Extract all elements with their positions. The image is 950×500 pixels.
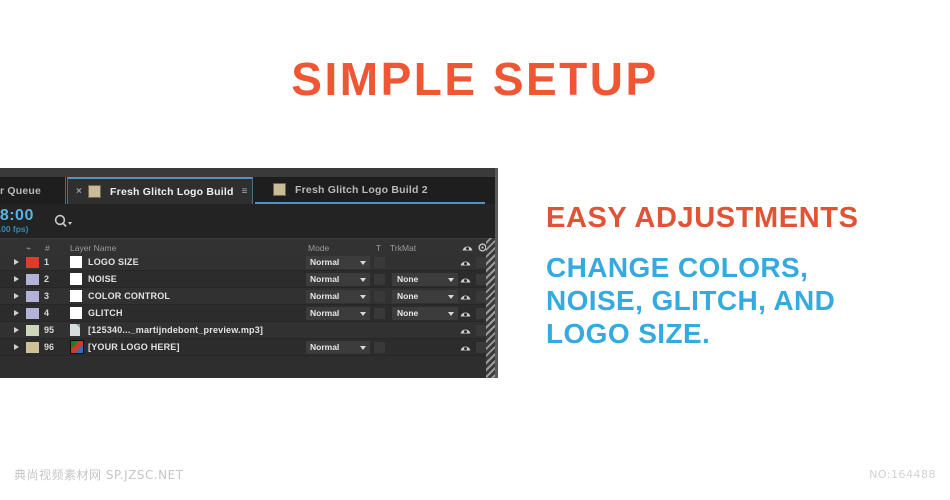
layer-source-icon <box>70 305 84 321</box>
layer-name[interactable]: NOISE <box>88 271 298 287</box>
layer-number: 3 <box>44 288 66 304</box>
layer-name[interactable]: GLITCH <box>88 305 298 321</box>
layer-source-icon <box>70 271 84 287</box>
layer-preserve-transparency-toggle <box>374 322 388 338</box>
layer-name[interactable]: LOGO SIZE <box>88 254 298 270</box>
column-header-mode[interactable]: Mode <box>308 243 329 253</box>
layer-color-swatch[interactable] <box>26 339 40 355</box>
layer-visibility-toggle[interactable] <box>460 288 476 304</box>
frame-rate-label: 0.00 fps) <box>0 224 29 234</box>
body-line-2: NOISE, GLITCH, AND <box>546 284 942 317</box>
layer-color-swatch[interactable] <box>26 254 40 270</box>
chevron-down-icon <box>448 295 454 299</box>
composition-icon <box>88 185 101 198</box>
chevron-right-icon <box>14 259 19 265</box>
chevron-down-icon <box>448 312 454 316</box>
body-line-3: LOGO SIZE. <box>546 317 942 350</box>
search-icon[interactable] <box>52 213 74 229</box>
layer-source-icon <box>70 322 84 338</box>
layer-color-swatch[interactable] <box>26 305 40 321</box>
tab-fresh-glitch-logo-build-label: Fresh Glitch Logo Build <box>110 186 234 198</box>
chevron-right-icon <box>14 344 19 350</box>
composition-icon <box>273 183 286 196</box>
layer-twirl-toggle[interactable] <box>14 288 24 304</box>
tab-fresh-glitch-logo-build-2-label: Fresh Glitch Logo Build 2 <box>295 184 428 196</box>
chevron-right-icon <box>14 293 19 299</box>
layer-mode-dropdown[interactable]: Normal <box>306 254 372 270</box>
layer-preserve-transparency-toggle[interactable] <box>374 271 388 287</box>
layer-visibility-toggle[interactable] <box>460 322 476 338</box>
column-header-layer-name[interactable]: Layer Name <box>70 243 116 253</box>
chevron-right-icon <box>14 310 19 316</box>
layer-name[interactable]: COLOR CONTROL <box>88 288 298 304</box>
chevron-right-icon <box>14 327 19 333</box>
watermark-left: 典尚视频素材网 SP.JZSC.NET <box>14 466 184 483</box>
tab-render-queue[interactable]: r Queue <box>0 177 66 204</box>
chevron-down-icon <box>360 261 366 265</box>
layer-visibility-toggle[interactable] <box>460 254 476 270</box>
layer-twirl-toggle[interactable] <box>14 305 24 321</box>
layer-visibility-toggle[interactable] <box>460 339 476 355</box>
chevron-down-icon <box>360 295 366 299</box>
layer-twirl-toggle[interactable] <box>14 322 24 338</box>
watermark-right: NO:164488 <box>869 468 936 481</box>
layer-source-icon <box>70 339 84 355</box>
layer-thumbnail-icon <box>70 340 84 354</box>
layer-mode-dropdown[interactable]: Normal <box>306 271 372 287</box>
layer-trkmat-dropdown <box>392 339 462 355</box>
chevron-down-icon <box>360 278 366 282</box>
layer-source-swatch <box>70 273 82 285</box>
tab-menu-icon[interactable]: ≡ <box>242 186 248 197</box>
table-row[interactable]: 4GLITCHNormalNone <box>0 305 498 322</box>
layer-trkmat-dropdown <box>392 254 462 270</box>
layer-color-swatch[interactable] <box>26 271 40 287</box>
table-row[interactable]: 95[125340..._martijndebont_preview.mp3] <box>0 322 498 339</box>
tab-fresh-glitch-logo-build[interactable]: × Fresh Glitch Logo Build ≡ <box>67 177 253 204</box>
layer-source-swatch <box>70 307 82 319</box>
layer-visibility-toggle[interactable] <box>460 271 476 287</box>
layer-number: 1 <box>44 254 66 270</box>
eye-icon[interactable] <box>462 243 473 254</box>
layer-source-icon <box>70 254 84 270</box>
panel-top-strip <box>0 168 498 177</box>
layer-twirl-toggle[interactable] <box>14 254 24 270</box>
table-row[interactable]: 2NOISENormalNone <box>0 271 498 288</box>
panel-right-edge <box>495 168 498 378</box>
column-header-t[interactable]: T <box>376 243 381 253</box>
timeline-layer-list: 1LOGO SIZENormal2NOISENormalNone3COLOR C… <box>0 254 498 378</box>
body-copy: CHANGE COLORS, NOISE, GLITCH, AND LOGO S… <box>546 251 942 350</box>
layer-preserve-transparency-toggle[interactable] <box>374 339 388 355</box>
layer-twirl-toggle[interactable] <box>14 271 24 287</box>
after-effects-timeline-panel: r Queue × Fresh Glitch Logo Build ≡ Fres… <box>0 168 498 378</box>
chevron-down-icon <box>360 312 366 316</box>
column-header-number[interactable]: # <box>45 243 50 253</box>
layer-preserve-transparency-toggle[interactable] <box>374 288 388 304</box>
audio-file-icon <box>70 324 80 336</box>
chevron-down-icon <box>360 346 366 350</box>
table-row[interactable]: 1LOGO SIZENormal <box>0 254 498 271</box>
chevron-right-icon <box>14 276 19 282</box>
layer-name[interactable]: [125340..._martijndebont_preview.mp3] <box>88 322 298 338</box>
column-header-trkmat[interactable]: TrkMat <box>390 243 416 253</box>
layer-source-swatch <box>70 290 82 302</box>
tab-fresh-glitch-logo-build-2[interactable]: Fresh Glitch Logo Build 2 <box>255 177 485 204</box>
tag-icon[interactable]: ⌁ <box>26 243 31 254</box>
layer-twirl-toggle[interactable] <box>14 339 24 355</box>
panel-tab-bar: r Queue × Fresh Glitch Logo Build ≡ Fres… <box>0 177 498 204</box>
layer-mode-dropdown[interactable]: Normal <box>306 305 372 321</box>
layer-number: 96 <box>44 339 66 355</box>
page-title: SIMPLE SETUP <box>0 52 950 106</box>
layer-color-swatch[interactable] <box>26 288 40 304</box>
marketing-text-block: EASY ADJUSTMENTS CHANGE COLORS, NOISE, G… <box>546 204 942 350</box>
layer-trkmat-dropdown <box>392 322 462 338</box>
body-line-1: CHANGE COLORS, <box>546 251 942 284</box>
layer-mode-dropdown[interactable]: Normal <box>306 288 372 304</box>
layer-preserve-transparency-toggle[interactable] <box>374 254 388 270</box>
layer-trkmat-dropdown[interactable]: None <box>392 305 462 321</box>
table-row[interactable]: 96[YOUR LOGO HERE]Normal <box>0 339 498 356</box>
layer-color-swatch[interactable] <box>26 322 40 338</box>
timecode-toolbar: :8:00 0.00 fps) <box>0 204 498 238</box>
layer-trkmat-dropdown[interactable]: None <box>392 288 462 304</box>
layer-number: 4 <box>44 305 66 321</box>
layer-visibility-toggle[interactable] <box>460 305 476 321</box>
layer-trkmat-dropdown[interactable]: None <box>392 271 462 287</box>
close-icon[interactable]: × <box>76 187 82 197</box>
table-row[interactable]: 3COLOR CONTROLNormalNone <box>0 288 498 305</box>
layer-preserve-transparency-toggle[interactable] <box>374 305 388 321</box>
current-timecode[interactable]: :8:00 <box>0 207 34 225</box>
tab-render-queue-label: r Queue <box>0 185 41 197</box>
layer-source-icon <box>70 288 84 304</box>
layer-mode-dropdown[interactable]: Normal <box>306 339 372 355</box>
layer-name[interactable]: [YOUR LOGO HERE] <box>88 339 298 355</box>
layer-mode-dropdown <box>306 322 372 338</box>
layer-number: 2 <box>44 271 66 287</box>
layer-source-swatch <box>70 256 82 268</box>
chevron-down-icon <box>448 278 454 282</box>
sub-headline: EASY ADJUSTMENTS <box>546 204 942 233</box>
layer-number: 95 <box>44 322 66 338</box>
